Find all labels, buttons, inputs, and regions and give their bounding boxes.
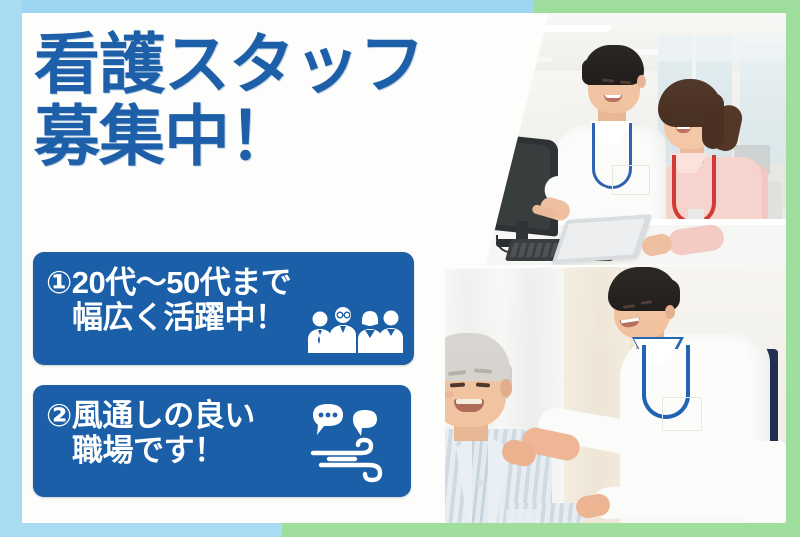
photo-caregiver-with-elderly-man — [410, 265, 786, 523]
frame-band-left-blue — [0, 0, 22, 523]
page-title: 看護スタッフ — [34, 31, 474, 99]
recruitment-banner: 看護スタッフ 募集中！ ①20代〜50代まで幅広く活躍中！ — [0, 0, 800, 537]
page-title-line2: 募集中！ — [34, 103, 474, 171]
frame-band-bottom-green — [282, 523, 800, 537]
frame-band-top-blue — [0, 0, 534, 13]
frame-band-top-green — [534, 0, 800, 13]
content-panel: 看護スタッフ 募集中！ ①20代〜50代まで幅広く活躍中！ — [22, 13, 786, 523]
badge-1-text: ①20代〜50代まで幅広く活躍中！ — [46, 265, 291, 335]
group-of-people-icon — [305, 306, 403, 353]
badge-2-text: ②風通しの良い職場です！ — [46, 398, 255, 468]
photo-staff-at-computer — [452, 13, 786, 265]
feature-badge-open-workplace[interactable]: ②風通しの良い職場です！ — [33, 385, 411, 497]
speech-bubbles-wind-icon — [307, 401, 399, 485]
frame-band-right-green — [786, 0, 800, 537]
text-column: 看護スタッフ 募集中！ ①20代〜50代まで幅広く活躍中！ — [22, 13, 474, 523]
feature-badge-age-range[interactable]: ①20代〜50代まで幅広く活躍中！ — [33, 252, 414, 365]
frame-band-bottom-blue — [0, 523, 282, 537]
